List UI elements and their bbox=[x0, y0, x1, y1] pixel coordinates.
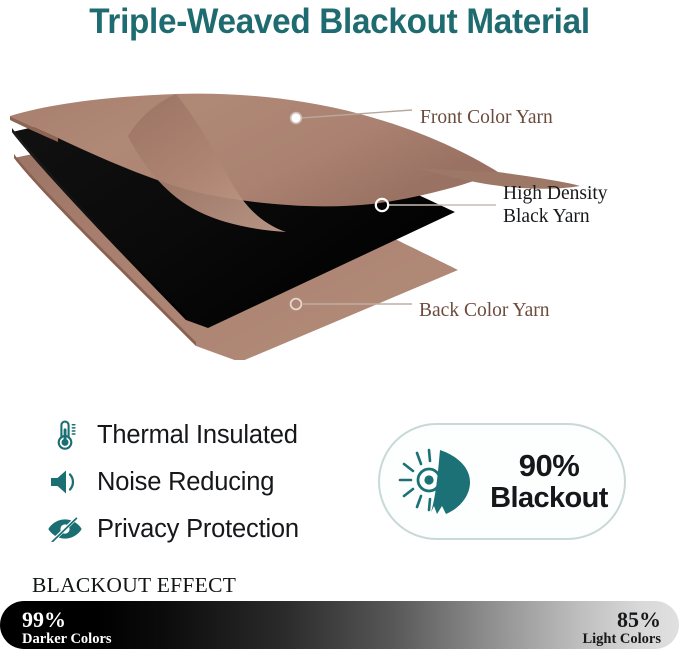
callout-label-high-density-black-yarn: High Density Black Yarn bbox=[503, 182, 608, 228]
callout-label-hd-line-2: Black Yarn bbox=[503, 206, 590, 227]
feature-item-privacy-protection: Privacy Protection bbox=[46, 506, 366, 552]
feature-label: Thermal Insulated bbox=[97, 421, 298, 450]
speaker-sound-icon bbox=[46, 463, 84, 501]
callout-label-front-color-yarn: Front Color Yarn bbox=[420, 106, 553, 129]
infographic-canvas: Triple-Weaved Blackout Material bbox=[0, 0, 679, 656]
blackout-word: Blackout bbox=[480, 483, 618, 514]
blackout-rating-text: 90% Blackout bbox=[480, 450, 624, 514]
light-colors-percent: 85% bbox=[582, 608, 661, 631]
sun-behind-curtain-icon bbox=[394, 443, 480, 521]
page-title: Triple-Weaved Blackout Material bbox=[17, 2, 662, 42]
feature-item-noise-reducing: Noise Reducing bbox=[46, 459, 366, 505]
blackout-percent: 90% bbox=[480, 450, 618, 483]
callout-label-back-color-yarn: Back Color Yarn bbox=[419, 299, 550, 322]
light-colors-caption: Light Colors bbox=[582, 632, 661, 647]
feature-label: Noise Reducing bbox=[97, 468, 274, 497]
blackout-effect-section-label: BLACKOUT EFFECT bbox=[32, 573, 236, 598]
gradient-bar-left-stat: 99% Darker Colors bbox=[22, 608, 112, 647]
eye-slash-icon bbox=[46, 510, 84, 548]
feature-list: Thermal Insulated Noise Reducing Pri bbox=[46, 412, 366, 553]
darker-colors-percent: 99% bbox=[22, 608, 112, 631]
callout-label-hd-line-1: High Density bbox=[503, 183, 608, 204]
feature-label: Privacy Protection bbox=[97, 515, 299, 544]
gradient-bar-right-stat: 85% Light Colors bbox=[582, 608, 661, 647]
blackout-effect-gradient-bar: 99% Darker Colors 85% Light Colors bbox=[0, 601, 679, 649]
blackout-rating-badge: 90% Blackout bbox=[378, 423, 626, 540]
darker-colors-caption: Darker Colors bbox=[22, 632, 112, 647]
thermometer-icon bbox=[46, 416, 84, 454]
feature-item-thermal-insulated: Thermal Insulated bbox=[46, 412, 366, 458]
